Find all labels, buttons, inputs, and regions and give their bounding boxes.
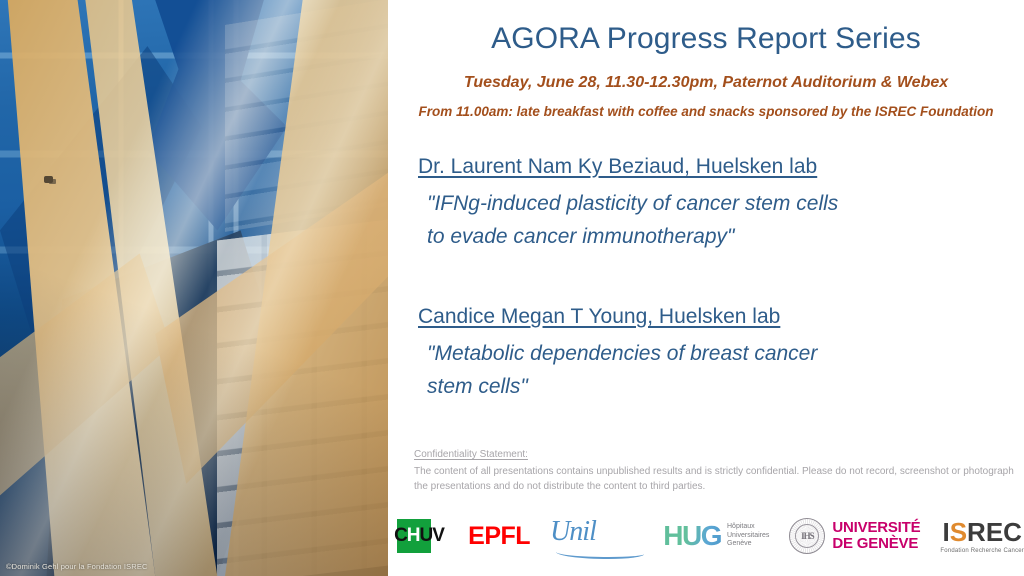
isrec-logo: ISREC Fondation Recherche Cancer (940, 519, 1024, 554)
isrec-letter-s-accent: S (950, 517, 967, 547)
photo-credit: ©Dominik Gehl pour la Fondation ISREC (6, 562, 148, 571)
hug-logo: HUG Hôpitaux Universitaires Genève (663, 522, 769, 550)
unil-logo: Unil (550, 516, 643, 556)
page-title: AGORA Progress Report Series (388, 22, 1024, 56)
unil-swash-icon (556, 547, 644, 559)
event-datetime-location: Tuesday, June 28, 11.30-12.30pm, Paterno… (388, 74, 1024, 92)
talk-1-title-line-1: "IFNg-induced plasticity of cancer stem … (427, 188, 1018, 221)
photo-wall-sconce (44, 176, 53, 183)
chuv-h-letter: H (407, 525, 420, 546)
agora-building-photo: ©Dominik Gehl pour la Fondation ISREC (0, 0, 388, 576)
partner-logo-bar: CHUV EPFL Unil HUG Hôpitaux Universitair… (388, 505, 1024, 567)
hug-wordmark: HUG (663, 522, 721, 550)
isrec-wordmark: ISREC (942, 519, 1021, 545)
event-breakfast-note: From 11.00am: late breakfast with coffee… (388, 104, 1024, 119)
talk-1-title-line-2: to evade cancer immunotherapy" (427, 221, 1018, 254)
chuv-logo: CHUV (388, 517, 448, 555)
photo-shadow-vignette (0, 0, 388, 576)
hug-subtitle: Hôpitaux Universitaires Genève (727, 523, 769, 550)
talk-2-title: "Metabolic dependencies of breast cancer… (427, 338, 1018, 403)
isrec-letter-i: I (942, 517, 949, 547)
talk-1-title: "IFNg-induced plasticity of cancer stem … (427, 188, 1018, 253)
isrec-subtitle: Fondation Recherche Cancer (940, 548, 1024, 554)
talk-2-title-line-1: "Metabolic dependencies of breast cancer (427, 338, 1018, 371)
unige-wordmark: UNIVERSITÉ DE GENÈVE (832, 520, 920, 552)
unige-seal-icon (789, 518, 825, 554)
talk-2-speaker: Candice Megan T Young, Huelsken lab (418, 305, 780, 329)
unige-logo: UNIVERSITÉ DE GENÈVE (789, 518, 920, 554)
talk-entry-1: Dr. Laurent Nam Ky Beziaud, Huelsken lab… (418, 155, 1018, 253)
chuv-wordmark: CHUV (388, 526, 450, 545)
presentation-slide: ©Dominik Gehl pour la Fondation ISREC AG… (0, 0, 1024, 576)
isrec-letters-rec: REC (967, 517, 1022, 547)
talk-1-speaker: Dr. Laurent Nam Ky Beziaud, Huelsken lab (418, 155, 817, 179)
confidentiality-heading: Confidentiality Statement: (414, 447, 1014, 463)
confidentiality-statement: Confidentiality Statement: The content o… (414, 447, 1014, 495)
confidentiality-body: The content of all presentations contain… (414, 464, 1014, 495)
slide-content: AGORA Progress Report Series Tuesday, Ju… (388, 0, 1024, 576)
talk-entry-2: Candice Megan T Young, Huelsken lab "Met… (418, 305, 1018, 403)
talk-2-title-line-2: stem cells" (427, 371, 1018, 404)
unil-wordmark: Unil (550, 516, 596, 548)
epfl-logo: EPFL (468, 524, 530, 549)
